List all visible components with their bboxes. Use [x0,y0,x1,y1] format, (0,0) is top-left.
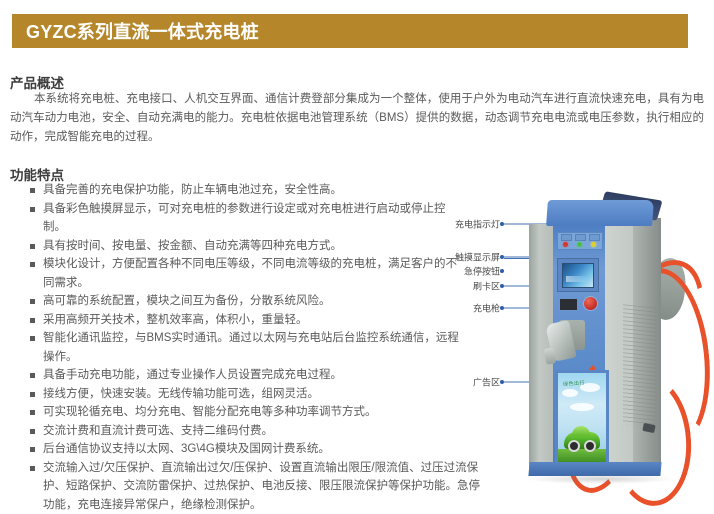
emergency-stop-button[interactable] [583,296,598,311]
list-item: 交流输入过/欠压保护、直流输出过欠/压保护、设置直流输出限压/限流值、过压过流保… [30,459,485,514]
feature-text: 交流计费和直流计费可选、支持二维码付费。 [43,425,273,437]
callout-label-charging-indicator: 充电指示灯 [455,218,500,231]
list-item: 接线方便，快速安装。无线传输功能可选，组网灵活。 [30,385,460,404]
square-bullet-icon [30,429,35,434]
indicator-led-yellow-icon [591,242,596,247]
feature-text: 具备彩色触摸屏显示，可对充电桩的参数进行设定或对充电桩进行启动或停止控制。 [43,203,446,234]
square-bullet-icon [30,373,35,378]
feature-text: 可实现轮循充电、均分充电、智能分配充电等多种功率调节方式。 [43,406,377,418]
callout-label-charging-gun: 充电枪 [473,302,500,315]
feature-text: 智能化通讯监控，与BMS实时通讯。通过以太网与充电站后台监控系统通信，远程操作。 [43,332,459,363]
page-title-bar: GYZC系列直流一体式充电桩 [12,14,688,48]
callout-label-touch-screen: 触摸显示屏 [455,251,500,264]
list-item: 具备完善的充电保护功能，防止车辆电池过充，安全性高。 [30,181,460,200]
cabinet-top-cap [546,200,654,226]
square-bullet-icon [30,262,35,267]
grass-ground [558,449,606,463]
feature-text: 具备完善的充电保护功能，防止车辆电池过充，安全性高。 [43,184,342,196]
callout-label-emergency-stop: 急停按钮 [464,265,500,278]
list-item: 具备手动充电功能，通过专业操作人员设置完成充电过程。 [30,366,460,385]
cloud-icon [570,403,594,411]
overview-paragraph: 本系统将充电桩、充电接口、人机交互界面、通信计费登部分集成为一个整体，使用于户外… [10,90,704,147]
touch-screen-bezel [557,258,599,292]
indicator-led-red-icon [563,242,568,247]
square-bullet-icon [30,318,35,323]
square-bullet-icon [30,299,35,304]
list-item: 模块化设计，方便配置各种不同电压等级，不同电流等级的充电桩，满足客户的不同需求。 [30,255,460,292]
list-item: 后台通信协议支持以太网、3G\4G模块及国网计费系统。 [30,440,460,459]
square-bullet-icon [30,188,35,193]
list-item: 采用高频开关技术，整机效率高，体积小，重量轻。 [30,311,460,330]
square-bullet-icon [30,392,35,397]
list-item: 智能化通讯监控，与BMS实时通讯。通过以太网与充电站后台监控系统通信，远程操作。 [30,329,460,366]
feature-text: 模块化设计，方便配置各种不同电压等级，不同电流等级的充电桩，满足客户的不同需求。 [43,258,457,289]
car-wheel-icon [584,440,596,452]
list-item: 具备彩色触摸屏显示，可对充电桩的参数进行设定或对充电桩进行启动或停止控制。 [30,200,460,237]
cloud-icon [562,389,578,397]
section-heading-overview: 产品概述 [10,72,64,92]
indicator-tag [575,234,586,241]
feature-text: 交流输入过/欠压保护、直流输出过欠/压保护、设置直流输出限压/限流值、过压过流保… [43,462,480,511]
square-bullet-icon [30,244,35,249]
page-title: GYZC系列直流一体式充电桩 [12,18,259,44]
charging-pile-illustration: 绿色出行 [515,186,714,496]
square-bullet-icon [30,336,35,341]
indicator-led-green-icon [577,242,582,247]
cabinet-shadow [525,474,675,484]
feature-text: 具备手动充电功能，通过专业操作人员设置完成充电过程。 [43,369,342,381]
car-wheel-icon [568,440,580,452]
list-item: 高可靠的系统配置，模块之间互为备份，分散系统风险。 [30,292,460,311]
feature-text: 高可靠的系统配置，模块之间互为备份，分散系统风险。 [43,295,331,307]
feature-text: 接线方便，快速安装。无线传输功能可选，组网灵活。 [43,388,319,400]
feature-text: 具有按时间、按电量、按金额、自动充满等四种充电方式。 [43,240,342,252]
list-item: 交流计费和直流计费可选、支持二维码付费。 [30,422,460,441]
callout-label-card-reader: 刷卡区 [473,280,500,293]
indicator-tag [561,234,572,241]
indicator-tag [589,234,600,241]
features-list: 具备完善的充电保护功能，防止车辆电池过充，安全性高。 具备彩色触摸屏显示，可对充… [30,181,460,514]
charging-pile-figure: 充电指示灯 触摸显示屏 急停按钮 刷卡区 充电枪 广告区 [430,178,714,503]
feature-text: 采用高频开关技术，整机效率高，体积小，重量轻。 [43,314,308,326]
card-reader-slot[interactable] [559,298,578,311]
advertising-area: 绿色出行 [555,370,609,466]
callout-label-advertising-area: 广告区 [473,376,500,389]
square-bullet-icon [30,447,35,452]
list-item: 具有按时间、按电量、按金额、自动充满等四种充电方式。 [30,237,460,256]
electric-car-icon [564,432,600,449]
indicator-lights-panel [557,232,603,250]
list-item: 可实现轮循充电、均分充电、智能分配充电等多种功率调节方式。 [30,403,460,422]
square-bullet-icon [30,410,35,415]
square-bullet-icon [30,466,35,471]
square-bullet-icon [30,207,35,212]
touch-screen-display[interactable] [562,263,594,288]
feature-text: 后台通信协议支持以太网、3G\4G模块及国网计费系统。 [43,443,330,455]
